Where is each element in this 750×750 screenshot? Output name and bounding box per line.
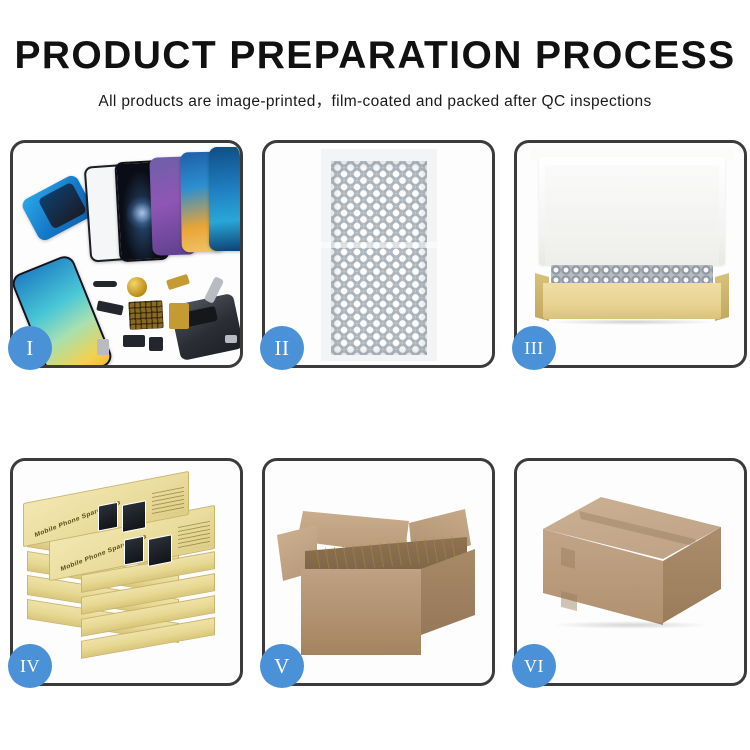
step-panel-6: VI <box>514 458 747 686</box>
phone-teal <box>209 147 240 251</box>
process-steps-grid: I II <box>10 140 740 680</box>
battery-connector <box>123 335 145 347</box>
flex-cable-1 <box>166 274 190 290</box>
sim-tray <box>97 339 109 355</box>
step-panel-5: V <box>262 458 495 686</box>
page-title: PRODUCT PREPARATION PROCESS <box>0 0 750 77</box>
box-lid-panel <box>539 157 725 265</box>
step-badge-4: IV <box>8 644 52 688</box>
step-panel-3: III <box>514 140 747 368</box>
step-badge-2: II <box>260 326 304 370</box>
step-panel-2: II <box>262 140 495 368</box>
box-screen-image-1a <box>98 502 118 532</box>
gold-coil-part <box>127 277 147 297</box>
sealed-shipping-carton <box>517 461 744 683</box>
open-shipping-carton <box>265 461 492 683</box>
product-preparation-infographic: PRODUCT PREPARATION PROCESS All products… <box>0 0 750 750</box>
flex-cable-2 <box>169 303 189 329</box>
stacked-retail-boxes: Mobile Phone Spare Parts Mobile Phone Sp… <box>13 461 240 683</box>
open-inner-box <box>517 143 744 365</box>
step-panel-1: I <box>10 140 243 368</box>
camera-module <box>96 300 124 315</box>
box-shadow <box>547 319 717 325</box>
step-2-image <box>265 143 492 365</box>
carton-tape-mark-top <box>561 547 575 569</box>
step-panel-4: Mobile Phone Spare Parts Mobile Phone Sp… <box>10 458 243 686</box>
step-4-image: Mobile Phone Spare Parts Mobile Phone Sp… <box>13 461 240 683</box>
header: PRODUCT PREPARATION PROCESS All products… <box>0 0 750 111</box>
step-badge-1: I <box>8 326 52 370</box>
step-3-image <box>517 143 744 365</box>
step-badge-5: V <box>260 644 304 688</box>
step-6-image <box>517 461 744 683</box>
step-5-image <box>265 461 492 683</box>
box-front-face <box>543 283 721 319</box>
step-badge-3: III <box>512 326 556 370</box>
box-spec-lines-2 <box>178 521 210 551</box>
step-1-image <box>13 143 240 365</box>
box-spec-lines-1 <box>152 487 184 517</box>
page-subtitle: All products are image-printed，film-coat… <box>0 77 750 111</box>
chip-grid-part <box>128 300 163 330</box>
carton-shadow <box>551 621 711 629</box>
speaker-part <box>93 281 117 287</box>
bubble-wrap-package <box>321 149 437 361</box>
step-badge-6: VI <box>512 644 556 688</box>
box-screen-image-2b <box>148 534 172 567</box>
bubble-wrap-texture <box>331 161 427 355</box>
carton-tape-mark-bottom <box>561 591 577 611</box>
box-screen-image-2a <box>124 536 144 566</box>
phone-parts-illustration <box>13 143 240 365</box>
vibrator-part <box>149 337 163 351</box>
screws-part <box>225 335 237 343</box>
carton-front-face <box>301 569 421 655</box>
box-screen-image-1b <box>122 500 146 533</box>
spare-parts-cluster <box>93 273 240 365</box>
